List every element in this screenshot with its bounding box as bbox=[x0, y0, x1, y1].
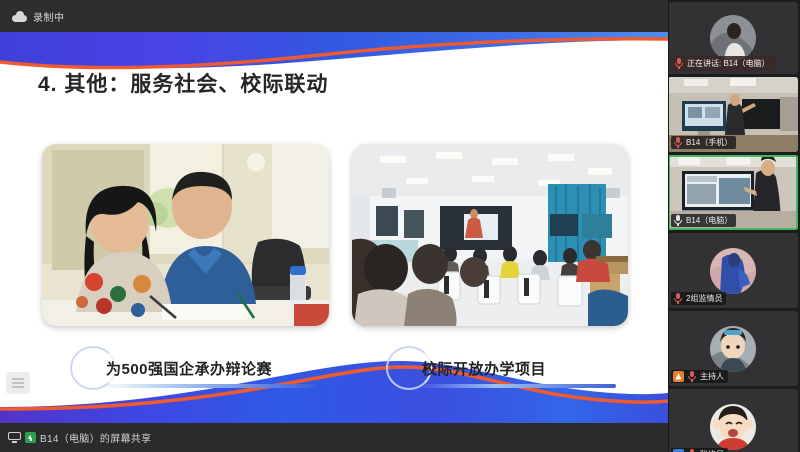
avatar-container bbox=[668, 389, 798, 452]
slide-overlay-toolbar[interactable] bbox=[6, 372, 30, 394]
microphone-icon bbox=[673, 137, 683, 148]
participant-label: 主持人 bbox=[671, 370, 728, 383]
avatar bbox=[710, 404, 756, 450]
monitor-icon bbox=[8, 432, 21, 443]
microphone-icon bbox=[673, 215, 683, 226]
participant-name: B14（手机） bbox=[686, 137, 732, 148]
cloud-recording-icon bbox=[12, 11, 27, 22]
participant-label: B14（手机） bbox=[671, 136, 736, 149]
participants-filmstrip[interactable]: 正在讲话: B14（电脑） bbox=[668, 0, 800, 452]
share-status-bar: B14（电脑）的屏幕共享 bbox=[0, 423, 668, 452]
participant-label: 联络员 bbox=[671, 448, 728, 452]
participant-name: 2组监情员 bbox=[686, 293, 722, 304]
microphone-icon bbox=[674, 58, 684, 69]
sidebar-divider bbox=[668, 0, 669, 452]
avatar bbox=[710, 326, 756, 372]
microphone-icon bbox=[673, 293, 683, 304]
slide-photo-right bbox=[352, 144, 628, 326]
toolbar-line bbox=[12, 382, 24, 384]
shared-screen-viewport[interactable]: 4. 其他：服务社会、校际联动 bbox=[0, 32, 668, 423]
slide-caption-left: 为500强国企承办辩论赛 bbox=[70, 348, 340, 388]
avatar bbox=[710, 248, 756, 294]
speaking-indicator: 正在讲话: B14（电脑） bbox=[671, 56, 776, 71]
upload-share-icon bbox=[25, 432, 36, 443]
participant-tile-member[interactable]: 联络员 bbox=[668, 389, 798, 452]
recording-bar: 录制中 bbox=[0, 0, 668, 32]
participant-tile-avatar[interactable]: 2组监情员 bbox=[668, 233, 798, 308]
participant-tile-speaking[interactable]: 正在讲话: B14（电脑） bbox=[668, 2, 798, 74]
caption-right-text: 校际开放办学项目 bbox=[422, 358, 546, 379]
participant-name: 正在讲话: B14（电脑） bbox=[687, 58, 770, 69]
caption-left-text: 为500强国企承办辩论赛 bbox=[106, 358, 272, 379]
participant-name: 主持人 bbox=[700, 371, 724, 382]
participant-tile-video-mobile[interactable]: B14（手机） bbox=[668, 77, 798, 152]
presentation-slide: 4. 其他：服务社会、校际联动 bbox=[0, 32, 668, 423]
slide-title: 4. 其他：服务社会、校际联动 bbox=[38, 68, 328, 98]
caption-underline-decoration bbox=[416, 384, 616, 388]
meeting-screen-share-window: 录制中 bbox=[0, 0, 800, 452]
participant-label: B14（电脑） bbox=[671, 214, 736, 227]
participant-label: 2组监情员 bbox=[671, 292, 726, 305]
toolbar-line bbox=[12, 386, 24, 388]
avatar bbox=[710, 15, 756, 61]
recording-label: 录制中 bbox=[33, 9, 65, 24]
slide-caption-right: 校际开放办学项目 bbox=[386, 348, 636, 388]
host-role-badge bbox=[673, 371, 684, 382]
caption-underline-decoration bbox=[100, 384, 315, 388]
microphone-icon bbox=[687, 371, 697, 382]
participant-name: B14（电脑） bbox=[686, 215, 732, 226]
toolbar-line bbox=[12, 378, 24, 380]
participant-tile-video-computer[interactable]: B14（电脑） bbox=[668, 155, 798, 230]
share-status-label: B14（电脑）的屏幕共享 bbox=[40, 430, 151, 445]
participant-tile-host[interactable]: 主持人 bbox=[668, 311, 798, 386]
slide-photo-left bbox=[42, 144, 329, 326]
